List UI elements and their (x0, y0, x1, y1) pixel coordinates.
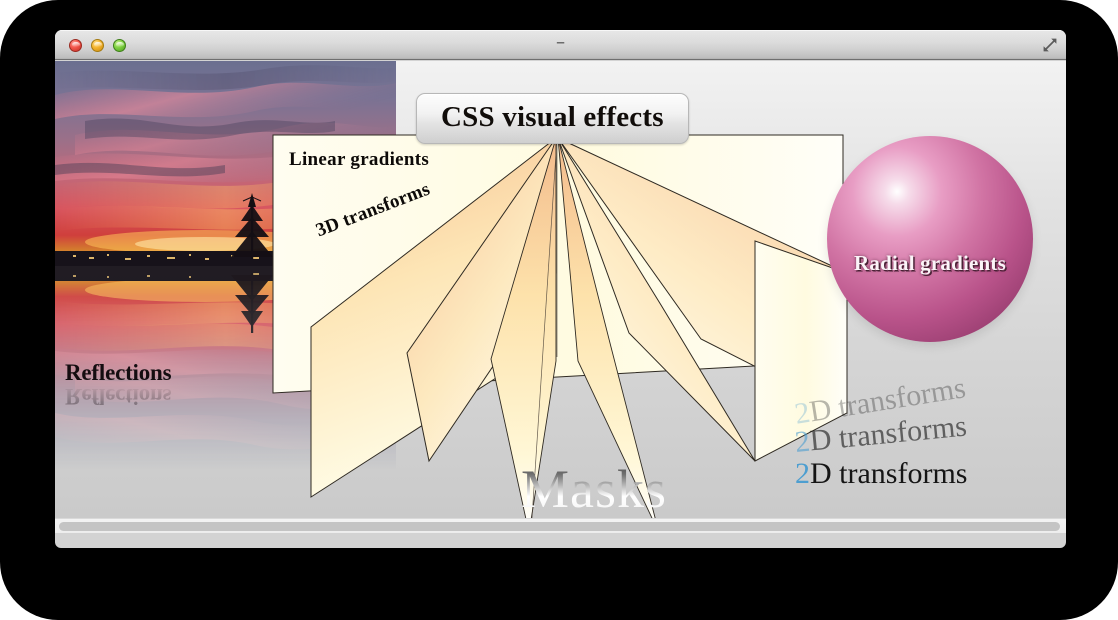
linear-gradients-label: Linear gradients (289, 149, 429, 171)
page-title: CSS visual effects (416, 93, 689, 144)
masks-label: Masks (521, 458, 667, 520)
radial-gradients-label: Radial gradients (827, 251, 1033, 276)
panel-left-leaf (273, 327, 311, 497)
horizontal-scrollbar-thumb[interactable] (59, 522, 1060, 531)
application-window: – (55, 30, 1066, 548)
desktop-backdrop: – (0, 0, 1118, 620)
fullscreen-icon[interactable] (1041, 36, 1059, 54)
window-title: – (55, 30, 1066, 60)
window-titlebar: – (55, 30, 1066, 60)
window-title-text: – (556, 30, 564, 58)
two-d-transforms-line-3: 2D transforms (795, 457, 967, 491)
slide-canvas: Reflections Reflections (55, 61, 1066, 533)
horizontal-scrollbar[interactable] (55, 518, 1066, 533)
radial-gradient-sphere (827, 136, 1033, 342)
two-d-transforms-number-3: 2 (795, 457, 810, 490)
two-d-transforms-text-3: D transforms (810, 457, 967, 490)
